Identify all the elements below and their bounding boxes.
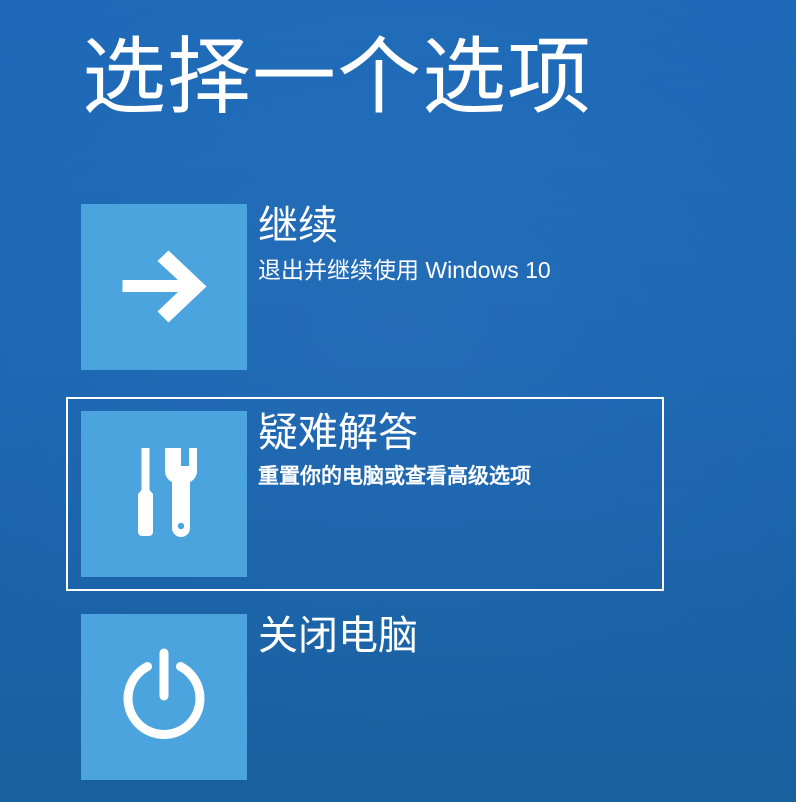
option-troubleshoot-title: 疑难解答	[258, 407, 531, 459]
arrow-right-icon	[116, 248, 212, 326]
option-turn-off-pc-tile	[81, 614, 247, 780]
option-continue-tile	[81, 204, 247, 370]
wrench-screwdriver-icon	[118, 446, 210, 542]
option-continue-title: 继续	[258, 200, 551, 252]
option-troubleshoot[interactable]: 疑难解答 重置你的电脑或查看高级选项	[66, 397, 664, 591]
option-troubleshoot-subtitle: 重置你的电脑或查看高级选项	[258, 461, 531, 493]
option-turn-off-pc-title: 关闭电脑	[258, 610, 418, 662]
page-title: 选择一个选项	[82, 30, 592, 124]
option-continue-text: 继续 退出并继续使用 Windows 10	[258, 198, 551, 286]
option-continue[interactable]: 继续 退出并继续使用 Windows 10	[66, 196, 664, 390]
option-turn-off-pc[interactable]: 关闭电脑	[66, 606, 664, 800]
option-continue-subtitle: 退出并继续使用 Windows 10	[258, 254, 551, 286]
option-troubleshoot-tile	[81, 411, 247, 577]
recovery-screen: 选择一个选项 继续 退出并继续使用 Windows 10	[0, 0, 796, 802]
option-troubleshoot-text: 疑难解答 重置你的电脑或查看高级选项	[258, 399, 531, 493]
power-icon	[116, 647, 212, 747]
option-turn-off-pc-text: 关闭电脑	[258, 608, 418, 664]
